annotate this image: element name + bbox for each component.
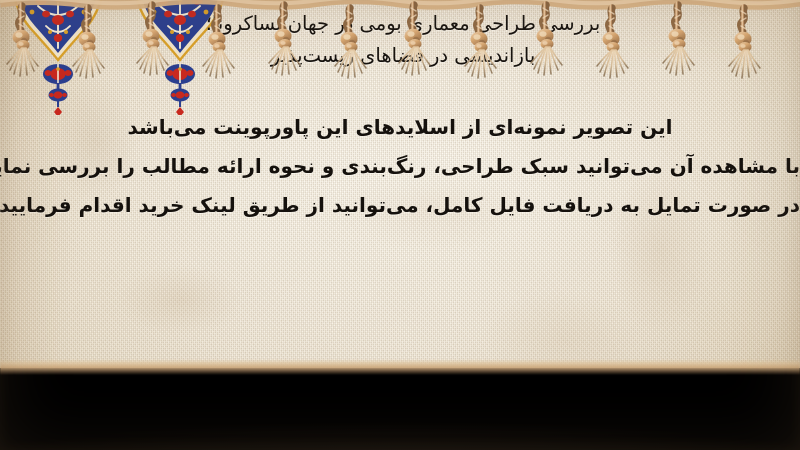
tassel-row	[7, 5, 760, 78]
band-top-edge	[0, 359, 800, 375]
carpet-fringe-tassels	[0, 0, 800, 82]
body-line-1: این تصویر نمونه‌ای از اسلایدهای این پاور…	[0, 108, 800, 147]
body-line-3: در صورت تمایل به دریافت فایل کامل، می‌تو…	[0, 186, 800, 225]
bottom-black-band	[0, 368, 800, 450]
presentation-slide: بررسی طراحی معماری بومی در جهان پساکرونا…	[0, 0, 800, 450]
slide-body: این تصویر نمونه‌ای از اسلایدهای این پاور…	[0, 108, 800, 225]
body-line-2: با مشاهده آن می‌توانید سبک طراحی، رنگ‌بن…	[0, 147, 800, 186]
